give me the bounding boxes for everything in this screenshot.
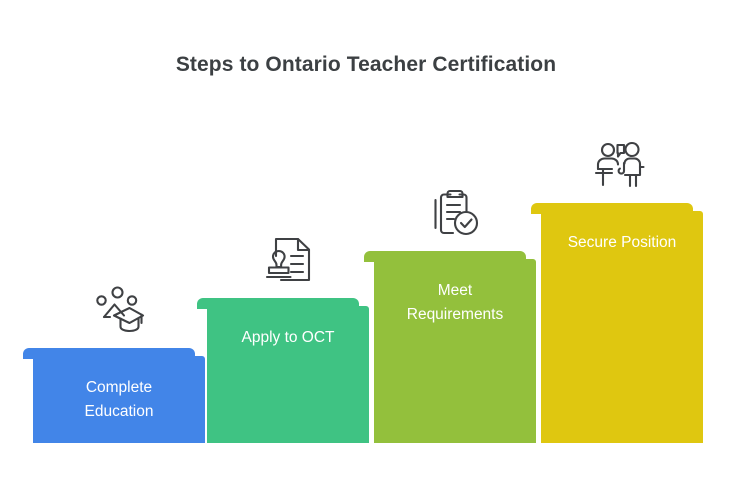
step-complete-education[interactable]: Complete Education — [33, 348, 205, 443]
interview-people-icon — [594, 139, 650, 191]
step-secure-position[interactable]: Secure Position — [541, 203, 703, 443]
step-label: Complete Education — [33, 376, 205, 424]
step-label: Apply to OCT — [207, 326, 369, 350]
infographic-canvas: Steps to Ontario Teacher Certification C… — [0, 0, 732, 493]
bar-body: Apply to OCT — [207, 306, 369, 443]
step-label: Meet Requirements — [374, 279, 536, 327]
bar-body: Meet Requirements — [374, 259, 536, 443]
stamped-document-icon — [260, 234, 316, 286]
step-label: Secure Position — [541, 231, 703, 255]
step-meet-requirements[interactable]: Meet Requirements — [374, 251, 536, 443]
graduation-cap-icon — [91, 284, 147, 336]
steps-chart: Complete Education Apply to OCT — [0, 0, 732, 493]
step-apply-to-oct[interactable]: Apply to OCT — [207, 298, 369, 443]
bar-body: Secure Position — [541, 211, 703, 443]
bar-body: Complete Education — [33, 356, 205, 443]
clipboard-check-icon — [427, 187, 483, 239]
